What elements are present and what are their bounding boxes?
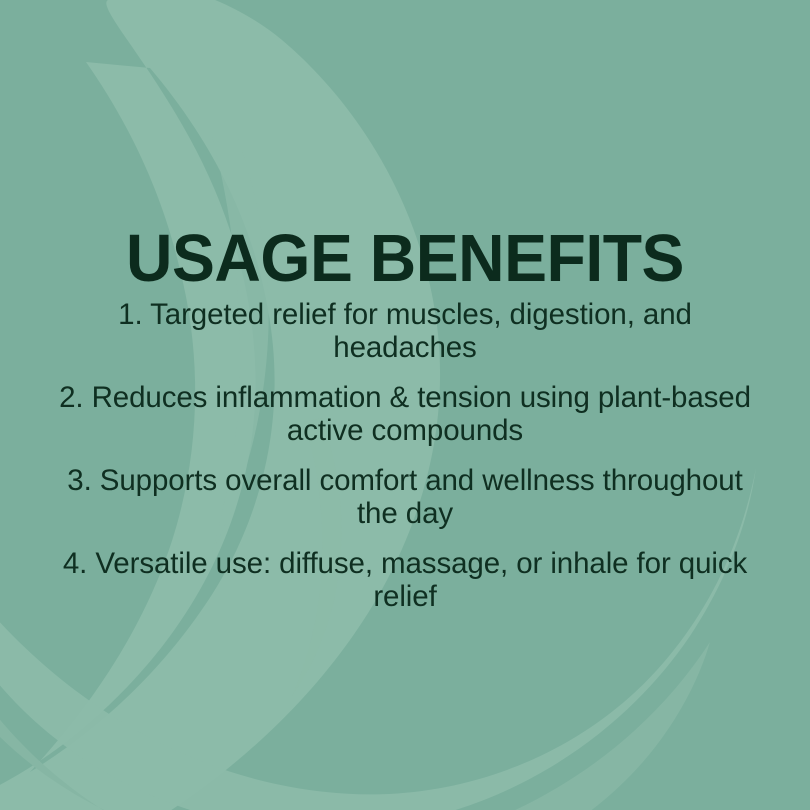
list-item: 4. Versatile use: diffuse, massage, or i… [48, 547, 762, 613]
poster-content: USAGE BENEFITS 1. Targeted relief for mu… [0, 0, 810, 810]
list-item: 3. Supports overall comfort and wellness… [48, 464, 762, 530]
list-item: 1. Targeted relief for muscles, digestio… [48, 298, 762, 364]
poster-canvas: USAGE BENEFITS 1. Targeted relief for mu… [0, 0, 810, 810]
benefits-list: 1. Targeted relief for muscles, digestio… [48, 298, 762, 613]
page-title: USAGE BENEFITS [16, 225, 794, 292]
list-item: 2. Reduces inflammation & tension using … [48, 381, 762, 447]
